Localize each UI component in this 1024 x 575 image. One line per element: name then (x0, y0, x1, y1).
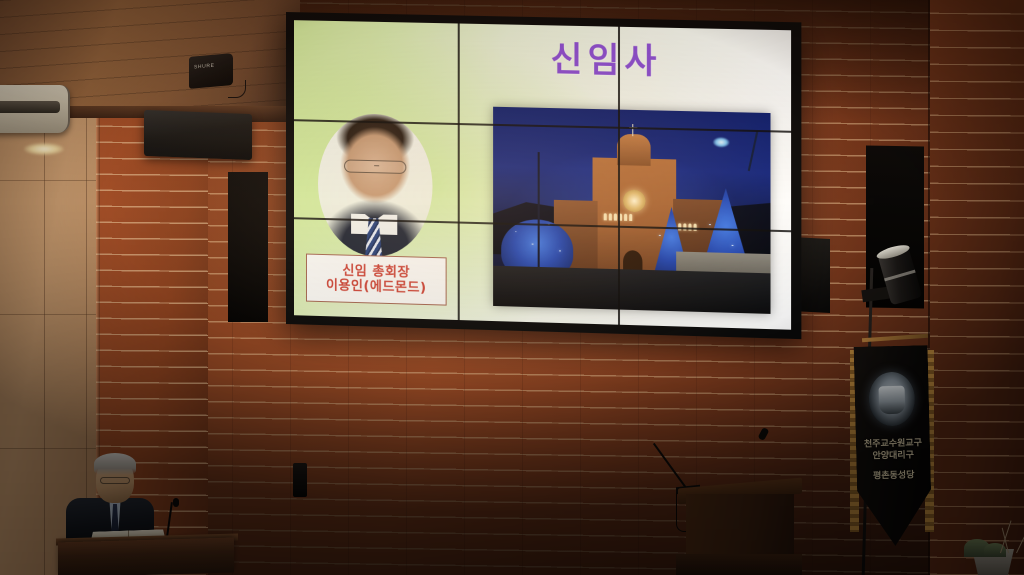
scene-root: SHURE (0, 0, 1024, 575)
air-conditioner-vent (0, 101, 60, 113)
photo-streetlight (711, 130, 756, 172)
banner-text-block: 천주교수원교구 안양대리구 평촌동성당 (856, 437, 931, 483)
wall-speaker-left (144, 110, 252, 160)
video-wall-bezel-vertical-1 (457, 23, 459, 320)
small-wall-fixture (293, 463, 307, 497)
church-night-photo (493, 107, 770, 314)
air-conditioner-unit (0, 85, 70, 133)
video-wall-screen: 신임사 신임 총회장 이용인(에드몬드) (294, 20, 791, 330)
photo-church-cross-icon (632, 124, 634, 136)
speaker-hair (94, 453, 136, 475)
photo-church-tower (617, 134, 650, 167)
emblem-inner-shape (879, 386, 906, 415)
diocese-emblem-icon (868, 371, 915, 426)
shure-brand-label: SHURE (194, 63, 215, 71)
photo-lamp-post (537, 152, 539, 276)
shure-receiver-device: SHURE (189, 53, 233, 89)
lectern-microphone-head (173, 498, 179, 507)
plant-twig-3 (1016, 519, 1024, 554)
portrait-glasses-icon (344, 159, 406, 174)
banner-line-3: 평촌동성당 (857, 469, 931, 483)
video-wall-display[interactable]: 신임사 신임 총회장 이용인(에드몬드) (286, 12, 801, 339)
potted-plant (938, 520, 1024, 575)
right-brick-return-wall (930, 0, 1024, 575)
reading-lectern (58, 538, 234, 575)
spotlight-body-ring (884, 270, 916, 282)
photo-ground-plaza (493, 266, 770, 314)
slide-title: 신임사 (551, 31, 662, 83)
banner-line-1: 천주교수원교구 (856, 437, 930, 451)
dark-wall-panel-left (228, 172, 268, 322)
photo-rose-window (623, 190, 645, 213)
portrait-of-new-chairman (318, 113, 433, 258)
ceiling-downlight (24, 143, 64, 155)
speaker-glasses-icon (100, 477, 130, 484)
podium-base (676, 554, 802, 575)
caption-line-name: 이용인(에드몬드) (326, 278, 427, 296)
slide-caption-box: 신임 총회장 이용인(에드몬드) (306, 254, 447, 306)
video-wall-bezel-vertical-2 (618, 27, 620, 325)
banner-line-2: 안양대리구 (856, 449, 930, 463)
